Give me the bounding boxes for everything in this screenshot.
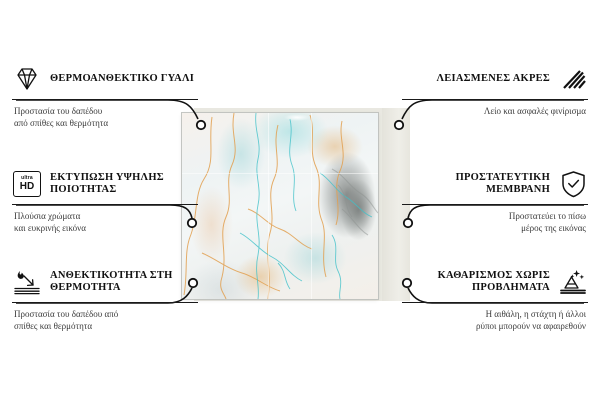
feature-description: Πλούσια χρώματα και ευκρινής εικόνα <box>12 211 198 234</box>
feature-desc-line2: μέρος της εικόνας <box>402 223 586 235</box>
feature-description: Προστασία του δαπέδου από σπίθες και θερ… <box>12 106 198 129</box>
feature-description: Λείο και ασφαλές φινίρισμα <box>402 106 588 118</box>
infographic-stage: ΘΕΡΜΟΑΝΘΕΚΤΙΚΟ ΓΥΑΛΙ Προστασία του δαπέδ… <box>0 0 600 400</box>
feature-title-line1: ΚΑΘΑΡΙΣΜΟΣ ΧΩΡΙΣ <box>438 270 550 281</box>
diamond-icon <box>12 64 42 94</box>
ultra-hd-icon-bottom-text: HD <box>20 182 34 192</box>
feature-desc-line1: Προστασία του δαπέδου <box>14 106 198 118</box>
feature-title-line1: ΑΝΘΕΚΤΙΚΟΤΗΤΑ <box>50 270 147 281</box>
feature-divider <box>12 302 198 303</box>
feature-protective-membrane: ΠΡΟΣΤΑΤΕΥΤΙΚΗ ΜΕΜΒΡΑΝΗ Προστατεύει το πί… <box>402 167 588 234</box>
feature-title-line1: ΕΚΤΥΠΩΣΗ ΥΨΗΛΗΣ <box>50 172 164 183</box>
feature-desc-line1: Πλούσια χρώματα <box>14 211 198 223</box>
feature-title-line1: ΠΡΟΣΤΑΤΕΥΤΙΚΗ <box>456 172 550 183</box>
feature-desc-line2: από σπίθες και θερμότητα <box>14 118 198 130</box>
glass-reflection-v2 <box>311 113 312 299</box>
feature-polished-edges: ΛΕΙΑΣΜΕΝΕΣ ΑΚΡΕΣ Λείο και ασφαλές φινίρι… <box>402 62 588 118</box>
feature-header: ΛΕΙΑΣΜΕΝΕΣ ΑΚΡΕΣ <box>402 62 588 96</box>
product-image <box>180 106 410 301</box>
feature-divider <box>12 204 198 205</box>
feature-title-line2: ΠΟΙΟΤΗΤΑΣ <box>50 184 116 195</box>
feature-header: ΑΝΘΕΚΤΙΚΟΤΗΤΑ ΣΤΗ ΘΕΡΜΟΤΗΤΑ <box>12 265 198 299</box>
feature-title-line1: ΛΕΙΑΣΜΕΝΕΣ <box>436 73 510 84</box>
feature-title: ΛΕΙΑΣΜΕΝΕΣ ΑΚΡΕΣ <box>402 73 550 86</box>
glass-panel-artwork <box>182 113 378 299</box>
feature-desc-line1: Λείο και ασφαλές φινίρισμα <box>402 106 586 118</box>
feature-title: ΑΝΘΕΚΤΙΚΟΤΗΤΑ ΣΤΗ ΘΕΡΜΟΤΗΤΑ <box>50 270 198 295</box>
feature-divider <box>402 99 588 100</box>
feature-header: ΠΡΟΣΤΑΤΕΥΤΙΚΗ ΜΕΜΒΡΑΝΗ <box>402 167 588 201</box>
feature-description: Προστασία του δαπέδου από σπίθες και θερ… <box>12 309 198 332</box>
feature-header: ΚΑΘΑΡΙΣΜΟΣ ΧΩΡΙΣ ΠΡΟΒΛΗΜΑΤΑ <box>402 265 588 299</box>
feature-title: ΘΕΡΜΟΑΝΘΕΚΤΙΚΟ ΓΥΑΛΙ <box>50 73 198 86</box>
feature-title: ΠΡΟΣΤΑΤΕΥΤΙΚΗ ΜΕΜΒΡΑΝΗ <box>402 172 550 197</box>
feature-desc-line2: και ευκρινής εικόνα <box>14 223 198 235</box>
glass-reflection-v1 <box>268 113 269 299</box>
feature-title-line2: ΠΡΟΒΛΗΜΑΤΑ <box>472 282 550 293</box>
feature-title-line2: ΓΥΑΛΙ <box>161 73 194 84</box>
feature-header: ΘΕΡΜΟΑΝΘΕΚΤΙΚΟ ΓΥΑΛΙ <box>12 62 198 96</box>
feature-easy-cleaning: ΚΑΘΑΡΙΣΜΟΣ ΧΩΡΙΣ ΠΡΟΒΛΗΜΑΤΑ Η αιθάλη, η … <box>402 265 588 332</box>
polished-edges-icon <box>558 64 588 94</box>
easy-cleaning-icon <box>558 267 588 297</box>
feature-heat-resistant-glass: ΘΕΡΜΟΑΝΘΕΚΤΙΚΟ ΓΥΑΛΙ Προστασία του δαπέδ… <box>12 62 198 129</box>
marble-veins <box>182 113 378 299</box>
feature-header: ultra HD ΕΚΤΥΠΩΣΗ ΥΨΗΛΗΣ ΠΟΙΟΤΗΤΑΣ <box>12 167 198 201</box>
feature-divider <box>402 302 588 303</box>
feature-title: ΕΚΤΥΠΩΣΗ ΥΨΗΛΗΣ ΠΟΙΟΤΗΤΑΣ <box>50 172 198 197</box>
shield-check-icon <box>558 169 588 199</box>
feature-title-line2: ΑΚΡΕΣ <box>513 73 550 84</box>
ultra-hd-icon: ultra HD <box>12 169 42 199</box>
feature-title-line1: ΘΕΡΜΟΑΝΘΕΚΤΙΚΟ <box>50 73 158 84</box>
feature-desc-line2: σπίθες και θερμότητα <box>14 321 198 333</box>
feature-desc-line2: ρύποι μπορούν να αφαιρεθούν <box>402 321 586 333</box>
glass-reflection-h1 <box>182 173 378 174</box>
feature-desc-line1: Προστατεύει το πίσω <box>402 211 586 223</box>
feature-desc-line1: Η αιθάλη, η στάχτη ή άλλοι <box>402 309 586 321</box>
feature-desc-line1: Προστασία του δαπέδου από <box>14 309 198 321</box>
feature-divider <box>12 99 198 100</box>
feature-title-line2: ΜΕΜΒΡΑΝΗ <box>486 184 550 195</box>
feature-description: Η αιθάλη, η στάχτη ή άλλοι ρύποι μπορούν… <box>402 309 588 332</box>
feature-heat-resistance: ΑΝΘΕΚΤΙΚΟΤΗΤΑ ΣΤΗ ΘΕΡΜΟΤΗΤΑ Προστασία το… <box>12 265 198 332</box>
feature-description: Προστατεύει το πίσω μέρος της εικόνας <box>402 211 588 234</box>
feature-title: ΚΑΘΑΡΙΣΜΟΣ ΧΩΡΙΣ ΠΡΟΒΛΗΜΑΤΑ <box>402 270 550 295</box>
heat-resistance-icon <box>12 267 42 297</box>
feature-high-quality-print: ultra HD ΕΚΤΥΠΩΣΗ ΥΨΗΛΗΣ ΠΟΙΟΤΗΤΑΣ Πλούσ… <box>12 167 198 234</box>
glass-highlight <box>284 114 310 121</box>
feature-divider <box>402 204 588 205</box>
